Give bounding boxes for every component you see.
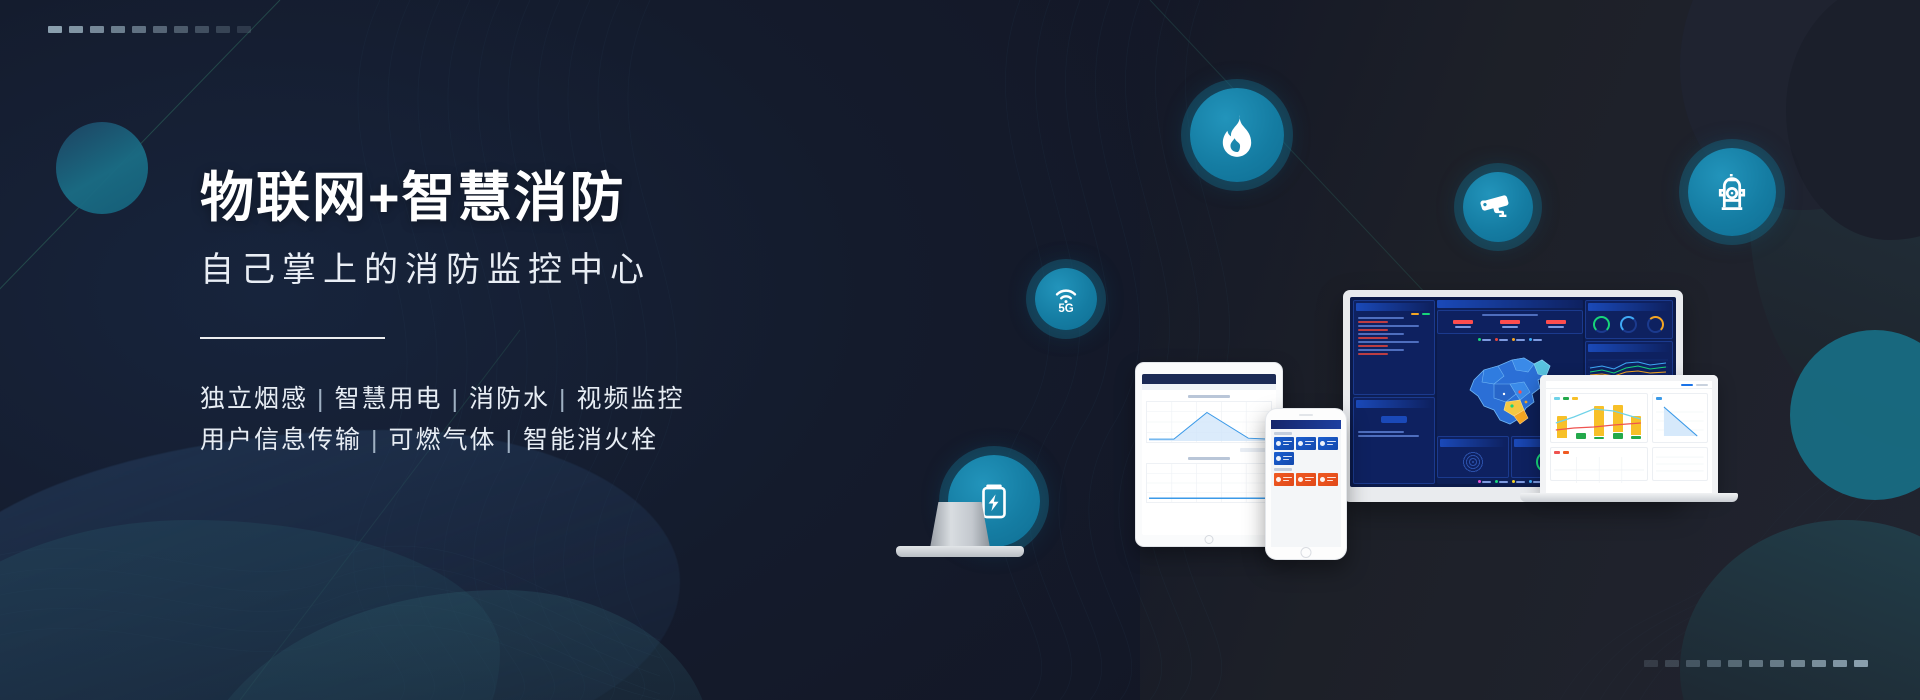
decorative-dash (132, 26, 146, 33)
kpi-item (1453, 320, 1473, 328)
5g-signal-icon-badge[interactable]: 5G (1035, 268, 1097, 330)
decorative-dash (111, 26, 125, 33)
feature-item: 智能消火栓 (523, 426, 658, 454)
alarm-list-panel (1353, 300, 1435, 395)
flame-icon-badge[interactable] (1190, 88, 1284, 182)
laptop-charts-row-2 (1546, 447, 1712, 485)
phone-menu-card[interactable] (1318, 437, 1338, 450)
laptop-base (1520, 493, 1738, 502)
feature-item: 消防水 (469, 385, 550, 413)
phone-header-bar (1271, 420, 1341, 429)
decorative-dash (237, 26, 251, 33)
laptop-bar-chart-card (1550, 393, 1648, 443)
laptop-trend-lines (1554, 403, 1644, 439)
phone-blue-card-grid (1271, 437, 1341, 465)
page-title: 物联网+智慧消防 (200, 168, 900, 228)
feature-separator: | (497, 426, 524, 454)
laptop-screen (1540, 375, 1718, 493)
feature-separator: | (443, 385, 470, 413)
tablet-flat-chart (1147, 464, 1271, 502)
decorative-dash (153, 26, 167, 33)
laptop-area-chart-card (1652, 393, 1708, 443)
cctv-camera-icon (1480, 189, 1516, 225)
tablet-screen (1142, 374, 1276, 535)
decorative-circle-blob (56, 122, 148, 214)
laptop-device[interactable] (1540, 375, 1740, 515)
cctv-camera-icon-badge[interactable] (1463, 172, 1533, 242)
feature-item: 视频监控 (577, 385, 685, 413)
laptop-chart-legend (1554, 397, 1644, 400)
tablet-device[interactable] (1135, 362, 1283, 547)
feature-line: 用户信息传输|可燃气体|智能消火栓 (200, 420, 900, 461)
radar-chart (1462, 451, 1484, 473)
device-status-panel (1353, 397, 1435, 484)
tablet-home-button[interactable] (1205, 535, 1214, 544)
phone-alarm-card[interactable] (1274, 473, 1294, 486)
decorative-dash (195, 26, 209, 33)
map-legend (1437, 336, 1582, 343)
gauge-chart (1647, 316, 1664, 333)
decorative-dash (1833, 660, 1847, 667)
phone-section-label (1274, 468, 1292, 471)
phone-screen (1271, 420, 1341, 547)
phone-alarm-card[interactable] (1296, 473, 1316, 486)
decorative-dash (1644, 660, 1658, 667)
gauge-chart (1620, 316, 1637, 333)
decorative-dash (216, 26, 230, 33)
decorative-dash (1707, 660, 1721, 667)
laptop-empty-axis-chart (1656, 451, 1704, 477)
decorative-dash (1812, 660, 1826, 667)
radar-panel (1437, 436, 1509, 478)
smartphone-device[interactable] (1265, 408, 1347, 560)
panel-title-bar (1356, 400, 1432, 408)
decorative-dash (1854, 660, 1868, 667)
feature-separator: | (362, 426, 389, 454)
monitor-stand-base (896, 546, 1024, 557)
kpi-panel (1437, 310, 1582, 334)
hero-copy: 物联网+智慧消防 自己掌上的消防监控中心 独立烟感|智慧用电|消防水|视频监控用… (200, 168, 900, 460)
laptop-charts-row-1 (1546, 389, 1712, 447)
svg-text:5G: 5G (1058, 303, 1073, 315)
flame-icon (1214, 112, 1260, 158)
phone-section-label (1274, 432, 1292, 435)
phone-orange-card-grid (1271, 473, 1341, 486)
feature-item: 可燃气体 (389, 426, 497, 454)
decorative-dash-row-top-left (48, 26, 251, 33)
feature-list: 独立烟感|智慧用电|消防水|视频监控用户信息传输|可燃气体|智能消火栓 (200, 379, 900, 460)
feature-item: 用户信息传输 (200, 426, 362, 454)
phone-menu-card[interactable] (1296, 437, 1316, 450)
decorative-dash (1770, 660, 1784, 667)
decorative-dash (69, 26, 83, 33)
kpi-item (1500, 320, 1520, 328)
laptop-tab-bar (1546, 381, 1712, 389)
decorative-dash (90, 26, 104, 33)
tablet-header-bar (1142, 374, 1276, 384)
phone-home-button[interactable] (1301, 547, 1312, 558)
feature-item: 独立烟感 (200, 385, 308, 413)
phone-menu-card[interactable] (1274, 452, 1294, 465)
tablet-chart-card-2 (1146, 457, 1272, 503)
tablet-toolbar (1142, 384, 1276, 390)
gauge-chart (1593, 316, 1610, 333)
decorative-dash (174, 26, 188, 33)
hero-banner: 物联网+智慧消防 自己掌上的消防监控中心 独立烟感|智慧用电|消防水|视频监控用… (0, 0, 1920, 700)
laptop-grid-table (1554, 457, 1644, 483)
feature-separator: | (550, 385, 577, 413)
gauge-row (1588, 313, 1670, 336)
laptop-axis-card (1652, 447, 1708, 481)
panel-title-bar (1356, 303, 1432, 311)
divider-rule (200, 337, 385, 339)
phone-alarm-card[interactable] (1318, 473, 1338, 486)
decorative-dash (1686, 660, 1700, 667)
decorative-dash (1665, 660, 1679, 667)
feature-separator: | (308, 385, 335, 413)
feature-line: 独立烟感|智慧用电|消防水|视频监控 (200, 379, 900, 420)
decorative-dash (1749, 660, 1763, 667)
decorative-dash (48, 26, 62, 33)
decorative-dash-row-bottom-right (1644, 660, 1868, 667)
5g-signal-icon: 5G (1048, 281, 1084, 317)
phone-menu-card[interactable] (1274, 437, 1294, 450)
laptop-bar-chart (1554, 403, 1644, 439)
decorative-dash (1728, 660, 1742, 667)
laptop-descending-area-chart (1656, 403, 1704, 439)
fire-hydrant-icon-badge[interactable] (1688, 148, 1776, 236)
kpi-row (1440, 317, 1579, 331)
phone-speaker (1299, 414, 1313, 416)
monitor-stand-neck (930, 502, 990, 548)
feature-item: 智慧用电 (335, 385, 443, 413)
dashboard-header-bar (1437, 300, 1582, 308)
kpi-item (1546, 320, 1566, 328)
tablet-chart-card-1 (1146, 395, 1272, 443)
dashboard-left-column (1353, 300, 1435, 484)
fire-hydrant-icon (1710, 170, 1754, 214)
laptop-table-card (1550, 447, 1648, 481)
decorative-dash (1791, 660, 1805, 667)
tablet-area-chart (1147, 402, 1271, 442)
gauges-panel (1585, 300, 1673, 339)
page-subtitle: 自己掌上的消防监控中心 (200, 250, 900, 291)
